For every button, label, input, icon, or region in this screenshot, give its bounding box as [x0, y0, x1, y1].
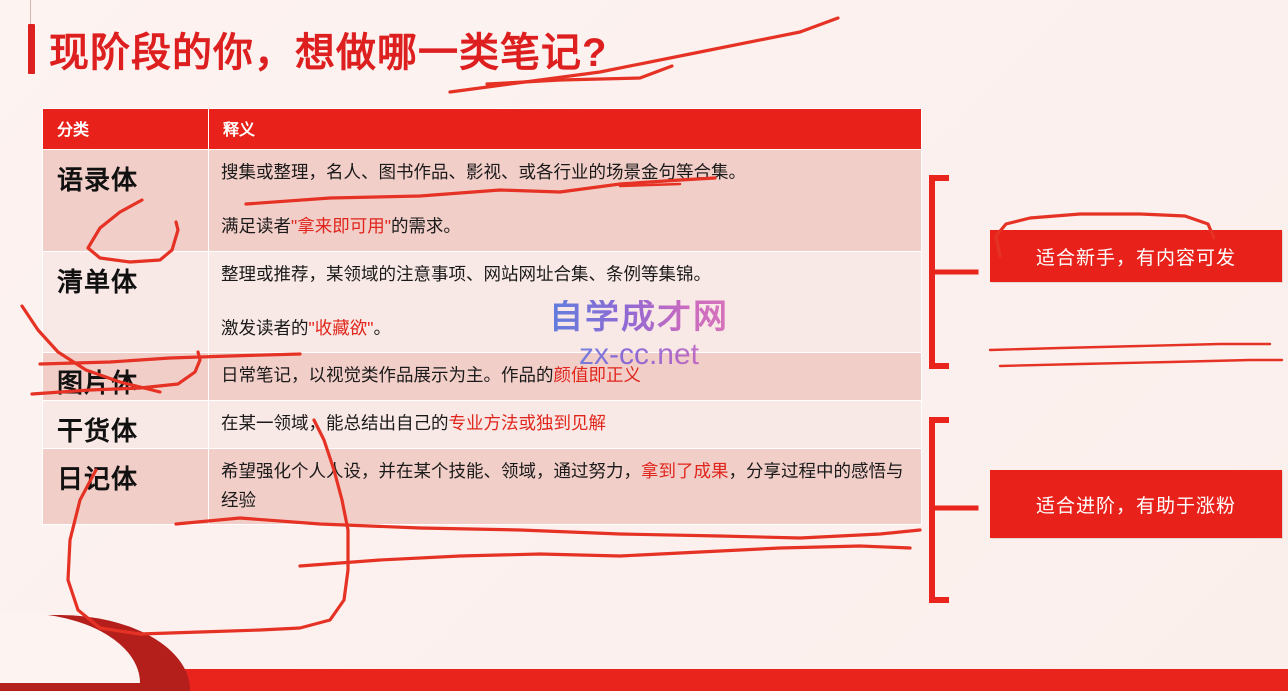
definition-paragraph: 搜集或整理，名人、图书作品、影视、或各行业的场景金句等合集。	[221, 158, 909, 186]
plain-text: 希望强化个人人设，并在某个技能、领域，通过努力，	[221, 461, 641, 481]
callout-advanced-label: 适合进阶，有助于涨粉	[1036, 491, 1236, 518]
highlighted-text: 颜值即正义	[554, 365, 642, 385]
table-cell-category: 图片体	[43, 353, 209, 401]
definition-paragraph: 整理或推荐，某领域的注意事项、网站网址合集、条例等集锦。	[221, 260, 909, 288]
highlighted-text: 拿到了成果	[641, 461, 729, 481]
highlighted-text: "收藏欲"	[309, 318, 374, 338]
table-cell-definition: 整理或推荐，某领域的注意事项、网站网址合集、条例等集锦。激发读者的"收藏欲"。	[209, 251, 922, 353]
callout-beginner-label: 适合新手，有内容可发	[1036, 243, 1236, 270]
page-title: 现阶段的你，想做哪一类笔记?	[49, 20, 607, 78]
table-cell-category: 语录体	[43, 150, 209, 252]
table-body: 语录体搜集或整理，名人、图书作品、影视、或各行业的场景金句等合集。满足读者"拿来…	[43, 150, 922, 525]
plain-text: 日常笔记，以视觉类作品展示为主。作品的	[221, 365, 554, 385]
page-title-row: 现阶段的你，想做哪一类笔记?	[22, 20, 607, 78]
table-header: 分类 释义	[43, 109, 922, 150]
column-header-definition: 释义	[209, 109, 922, 150]
annotation-callout1-underline-b	[1000, 360, 1282, 366]
plain-text: 的需求。	[391, 216, 461, 236]
table-cell-category: 干货体	[43, 401, 209, 449]
table-cell-definition: 日常笔记，以视觉类作品展示为主。作品的颜值即正义	[209, 353, 922, 401]
table-row: 日记体希望强化个人人设，并在某个技能、领域，通过努力，拿到了成果，分享过程中的感…	[43, 449, 922, 525]
highlighted-text: "拿来即可用"	[291, 216, 391, 236]
table-cell-category: 日记体	[43, 449, 209, 525]
callout-advanced: 适合进阶，有助于涨粉	[990, 470, 1282, 538]
table-cell-definition: 在某一领域，能总结出自己的专业方法或独到见解	[209, 401, 922, 449]
definition-paragraph: 在某一领域，能总结出自己的专业方法或独到见解	[221, 409, 909, 437]
definition-paragraph: 日常笔记，以视觉类作品展示为主。作品的颜值即正义	[221, 361, 909, 389]
bracket-beginner	[932, 178, 976, 366]
column-header-category: 分类	[43, 109, 209, 150]
table-cell-category: 清单体	[43, 251, 209, 353]
table-row: 语录体搜集或整理，名人、图书作品、影视、或各行业的场景金句等合集。满足读者"拿来…	[43, 150, 922, 252]
title-accent-bar	[28, 24, 35, 74]
plain-text: 搜集或整理，名人、图书作品、影视、或各行业的场景金句等合集。	[221, 162, 746, 182]
slide-canvas: 现阶段的你，想做哪一类笔记? 分类 释义 语录体搜集或整理，名人、图书作品、影视…	[0, 0, 1288, 691]
table-header-row: 分类 释义	[43, 109, 922, 150]
plain-text: 满足读者	[221, 216, 291, 236]
table-row: 干货体在某一领域，能总结出自己的专业方法或独到见解	[43, 401, 922, 449]
highlighted-text: 专业方法或独到见解	[449, 413, 607, 433]
plain-text: 整理或推荐，某领域的注意事项、网站网址合集、条例等集锦。	[221, 264, 711, 284]
table-row: 清单体整理或推荐，某领域的注意事项、网站网址合集、条例等集锦。激发读者的"收藏欲…	[43, 251, 922, 353]
annotation-callout1-underline-a	[990, 344, 1270, 350]
definition-paragraph: 满足读者"拿来即可用"的需求。	[221, 212, 909, 240]
plain-text: 在某一领域，能总结出自己的	[221, 413, 449, 433]
table-cell-definition: 希望强化个人人设，并在某个技能、领域，通过努力，拿到了成果，分享过程中的感悟与经…	[209, 449, 922, 525]
note-types-table: 分类 释义 语录体搜集或整理，名人、图书作品、影视、或各行业的场景金句等合集。满…	[42, 108, 922, 525]
table-row: 图片体日常笔记，以视觉类作品展示为主。作品的颜值即正义	[43, 353, 922, 401]
callout-beginner: 适合新手，有内容可发	[990, 230, 1282, 282]
plain-text: 。	[373, 318, 391, 338]
bottom-accent-bar	[0, 669, 1288, 691]
annotation-row5-line	[300, 546, 910, 566]
definition-paragraph: 激发读者的"收藏欲"。	[221, 314, 909, 342]
bracket-advanced	[932, 420, 976, 600]
table-cell-definition: 搜集或整理，名人、图书作品、影视、或各行业的场景金句等合集。满足读者"拿来即可用…	[209, 150, 922, 252]
definition-paragraph: 希望强化个人人设，并在某个技能、领域，通过努力，拿到了成果，分享过程中的感悟与经…	[221, 457, 909, 514]
plain-text: 激发读者的	[221, 318, 309, 338]
